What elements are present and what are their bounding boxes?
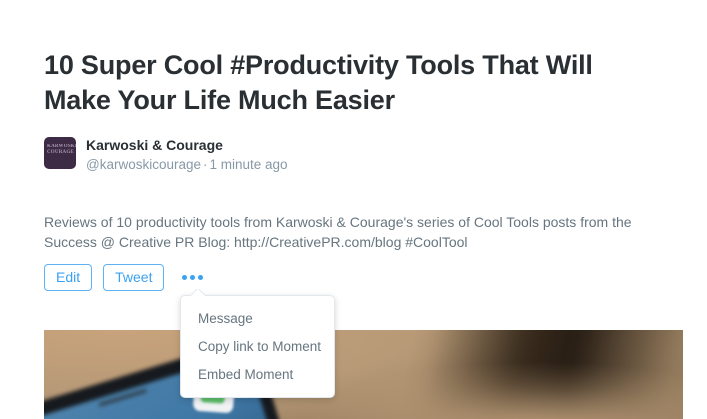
meta-separator: · xyxy=(201,157,210,172)
cover-photo[interactable] xyxy=(44,330,683,419)
menu-item-embed[interactable]: Embed Moment xyxy=(181,361,334,389)
menu-item-copy-link[interactable]: Copy link to Moment xyxy=(181,333,334,361)
author-name[interactable]: Karwoski & Courage xyxy=(86,136,288,155)
dot-2-icon xyxy=(190,275,195,280)
cover-glow xyxy=(44,330,683,419)
dot-1-icon xyxy=(182,275,187,280)
menu-item-message[interactable]: Message xyxy=(181,305,334,333)
byline-text: Karwoski & Courage @karwoskicourage·1 mi… xyxy=(86,136,288,174)
dot-3-icon xyxy=(198,275,203,280)
moment-description: Reviews of 10 productivity tools from Ka… xyxy=(44,212,644,252)
action-bar: Edit Tweet xyxy=(44,264,207,291)
author-handle[interactable]: @karwoskicourage xyxy=(86,157,201,172)
avatar[interactable]: KARWOSKI COURAGE xyxy=(44,137,76,169)
tweet-button[interactable]: Tweet xyxy=(103,264,164,291)
menu-caret-icon xyxy=(191,289,205,296)
edit-button[interactable]: Edit xyxy=(44,264,92,291)
avatar-initials: KARWOSKI COURAGE xyxy=(47,144,73,156)
more-options-menu: Message Copy link to Moment Embed Moment xyxy=(180,295,335,398)
page-title: 10 Super Cool #Productivity Tools That W… xyxy=(44,48,644,118)
more-options-icon[interactable] xyxy=(177,264,207,291)
moment-page: 10 Super Cool #Productivity Tools That W… xyxy=(0,0,707,419)
timestamp: 1 minute ago xyxy=(210,157,288,172)
author-meta: @karwoskicourage·1 minute ago xyxy=(86,155,288,174)
